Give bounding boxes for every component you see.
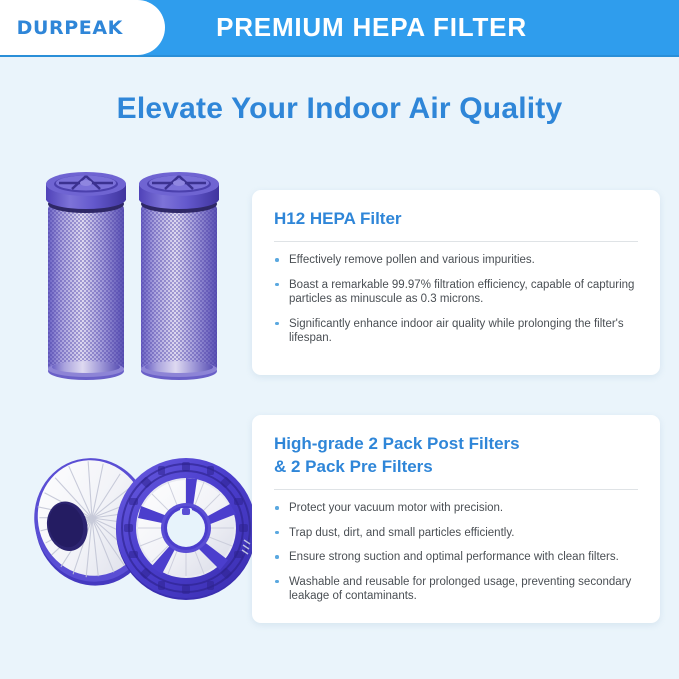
card-hepa-filter: H12 HEPA Filter Effectively remove polle… [252,190,660,375]
list-item-text: Significantly enhance indoor air quality… [289,318,624,345]
card-2-title-line1: High-grade 2 Pack Post Filters [274,433,638,454]
list-item: Boast a remarkable 99.97% filtration eff… [274,278,638,307]
header-bar: PREMIUM HEPA FILTER DURPEAK [0,0,679,57]
list-item-text: Washable and reusable for prolonged usag… [289,576,631,603]
card-1-bullet-list: Effectively remove pollen and various im… [274,253,638,346]
pre-filters-image [26,166,240,388]
list-item: Washable and reusable for prolonged usag… [274,575,638,604]
list-item: Effectively remove pollen and various im… [274,253,638,268]
list-item: Trap dust, dirt, and small particles eff… [274,526,638,541]
list-item-text: Trap dust, dirt, and small particles eff… [289,527,514,539]
list-item: Significantly enhance indoor air quality… [274,317,638,346]
card-2-title-line2: & 2 Pack Pre Filters [274,456,638,477]
card-post-pre-filters: High-grade 2 Pack Post Filters & 2 Pack … [252,415,660,623]
brand-logo: DURPEAK [0,0,165,55]
headline: Elevate Your Indoor Air Quality [0,92,679,126]
card-2-bullet-list: Protect your vacuum motor with precision… [274,501,638,604]
card-2-divider [274,489,638,490]
list-item-text: Protect your vacuum motor with precision… [289,502,503,514]
list-item: Protect your vacuum motor with precision… [274,501,638,516]
bullet-dot-icon [275,506,279,510]
bullet-dot-icon [275,283,279,287]
bullet-dot-icon [275,258,279,262]
list-item: Ensure strong suction and optimal perfor… [274,550,638,565]
card-1-divider [274,241,638,242]
pre-filter-right [139,172,219,380]
bullet-dot-icon [275,555,279,559]
post-filters-image [14,438,254,623]
post-filter-front [116,458,254,600]
bullet-dot-icon [275,580,279,584]
pre-filter-left [46,172,126,380]
brand-logo-text: DURPEAK [17,17,123,39]
list-item-text: Ensure strong suction and optimal perfor… [289,551,619,563]
card-1-title: H12 HEPA Filter [274,208,638,229]
list-item-text: Effectively remove pollen and various im… [289,254,535,266]
bullet-dot-icon [275,322,279,326]
list-item-text: Boast a remarkable 99.97% filtration eff… [289,279,634,306]
bullet-dot-icon [275,531,279,535]
